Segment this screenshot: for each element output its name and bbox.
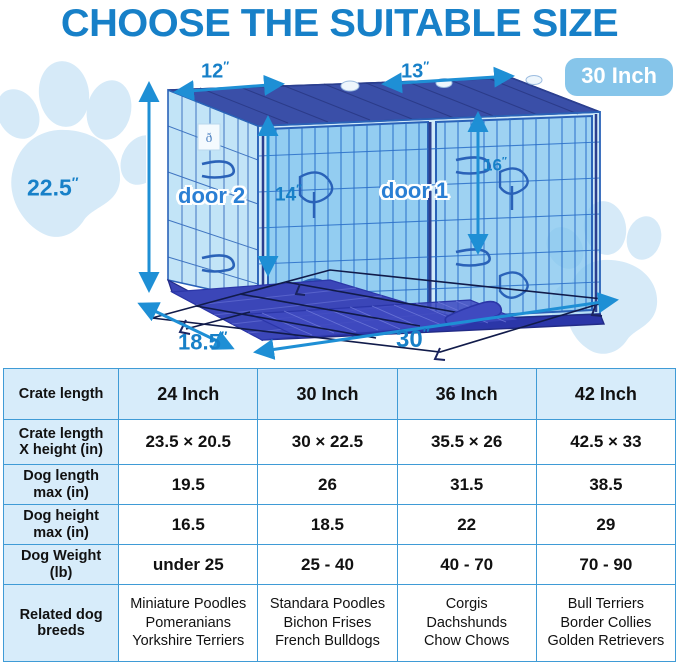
row-label-crate-length-x-height: Crate length X height (in) [4, 420, 119, 465]
cell-crate-dim-30: 30 × 22.5 [258, 420, 397, 465]
dimension-label-top-right-width: 13″ [401, 60, 429, 82]
crate-wireframe-graphic: ð [0, 52, 679, 364]
cell-crate-dim-42: 42.5 × 33 [536, 420, 675, 465]
cell-breeds-30: Standara Poodles Bichon Frises French Bu… [258, 585, 397, 662]
row-label-line: X height (in) [19, 442, 103, 458]
cell-breeds-36: Corgis Dachshunds Chow Chows [397, 585, 536, 662]
cell-dog-weight-24: under 25 [119, 545, 258, 585]
row-label-related-dog-breeds: Related dog breeds [4, 585, 119, 662]
cell-dog-height-24: 16.5 [119, 505, 258, 545]
cell-crate-dim-24: 23.5 × 20.5 [119, 420, 258, 465]
cell-dog-weight-42: 70 - 90 [536, 545, 675, 585]
row-label-line: Dog height [23, 508, 99, 524]
dimension-label-depth: 18.5″ [178, 330, 227, 353]
table-header-row: Crate length 24 Inch 30 Inch 36 Inch 42 … [4, 369, 676, 420]
row-label-line: max (in) [33, 525, 89, 541]
breed-name: Yorkshire Terriers [132, 633, 244, 649]
breed-name: Golden Retrievers [547, 633, 664, 649]
door-1-label: door 1 [381, 180, 448, 202]
row-label-line: max (in) [33, 485, 89, 501]
cell-dog-length-42: 38.5 [536, 465, 675, 505]
door-2-label: door 2 [178, 185, 245, 207]
table-header-42-inch: 42 Inch [536, 369, 675, 420]
table-header-crate-length: Crate length [4, 369, 119, 420]
cell-dog-height-36: 22 [397, 505, 536, 545]
cell-dog-height-30: 18.5 [258, 505, 397, 545]
table-row: Dog height max (in) 16.5 18.5 22 29 [4, 505, 676, 545]
dimension-label-door1-height: 16″ [483, 156, 507, 174]
cell-breeds-24: Miniature Poodles Pomeranians Yorkshire … [119, 585, 258, 662]
row-label-line: Dog length [23, 468, 99, 484]
table-row: Dog length max (in) 19.5 26 31.5 38.5 [4, 465, 676, 505]
svg-text:ð: ð [206, 130, 213, 145]
page-title: CHOOSE THE SUITABLE SIZE [0, 2, 679, 46]
cell-dog-weight-36: 40 - 70 [397, 545, 536, 585]
breed-name: Miniature Poodles [130, 596, 246, 612]
dimension-label-top-left-width: 12″ [201, 60, 229, 82]
table-header-30-inch: 30 Inch [258, 369, 397, 420]
breed-name: Corgis [446, 596, 488, 612]
table-header-36-inch: 36 Inch [397, 369, 536, 420]
dimension-label-length: 30″ [396, 327, 430, 352]
row-label-line: Dog Weight [21, 548, 101, 564]
row-label-dog-weight: Dog Weight (lb) [4, 545, 119, 585]
row-label-dog-length-max: Dog length max (in) [4, 465, 119, 505]
cell-dog-weight-30: 25 - 40 [258, 545, 397, 585]
breed-name: Dachshunds [426, 615, 507, 631]
cell-dog-height-42: 29 [536, 505, 675, 545]
table-row: Crate length X height (in) 23.5 × 20.5 3… [4, 420, 676, 465]
crate-illustration: ð [0, 52, 679, 364]
dimension-label-overall-height: 22.5″ [27, 176, 79, 200]
breed-name: Chow Chows [424, 633, 509, 649]
cell-dog-length-24: 19.5 [119, 465, 258, 505]
row-label-line: (lb) [50, 565, 73, 581]
breed-name: Pomeranians [146, 615, 231, 631]
row-label-dog-height-max: Dog height max (in) [4, 505, 119, 545]
breed-name: French Bulldogs [275, 633, 380, 649]
breed-name: Bull Terriers [568, 596, 644, 612]
breed-name: Standara Poodles [270, 596, 385, 612]
cell-crate-dim-36: 35.5 × 26 [397, 420, 536, 465]
row-label-line: breeds [37, 623, 85, 639]
table-header-24-inch: 24 Inch [119, 369, 258, 420]
table-row: Dog Weight (lb) under 25 25 - 40 40 - 70… [4, 545, 676, 585]
table-row: Related dog breeds Miniature Poodles Pom… [4, 585, 676, 662]
row-label-line: Related dog [20, 607, 103, 623]
breed-name: Border Collies [560, 615, 651, 631]
dimension-label-door2-width: 14″ [275, 184, 302, 204]
size-spec-table: Crate length 24 Inch 30 Inch 36 Inch 42 … [3, 368, 676, 662]
cell-dog-length-30: 26 [258, 465, 397, 505]
cell-breeds-42: Bull Terriers Border Collies Golden Retr… [536, 585, 675, 662]
breed-name: Bichon Frises [284, 615, 372, 631]
row-label-line: Crate length [19, 426, 104, 442]
cell-dog-length-36: 31.5 [397, 465, 536, 505]
